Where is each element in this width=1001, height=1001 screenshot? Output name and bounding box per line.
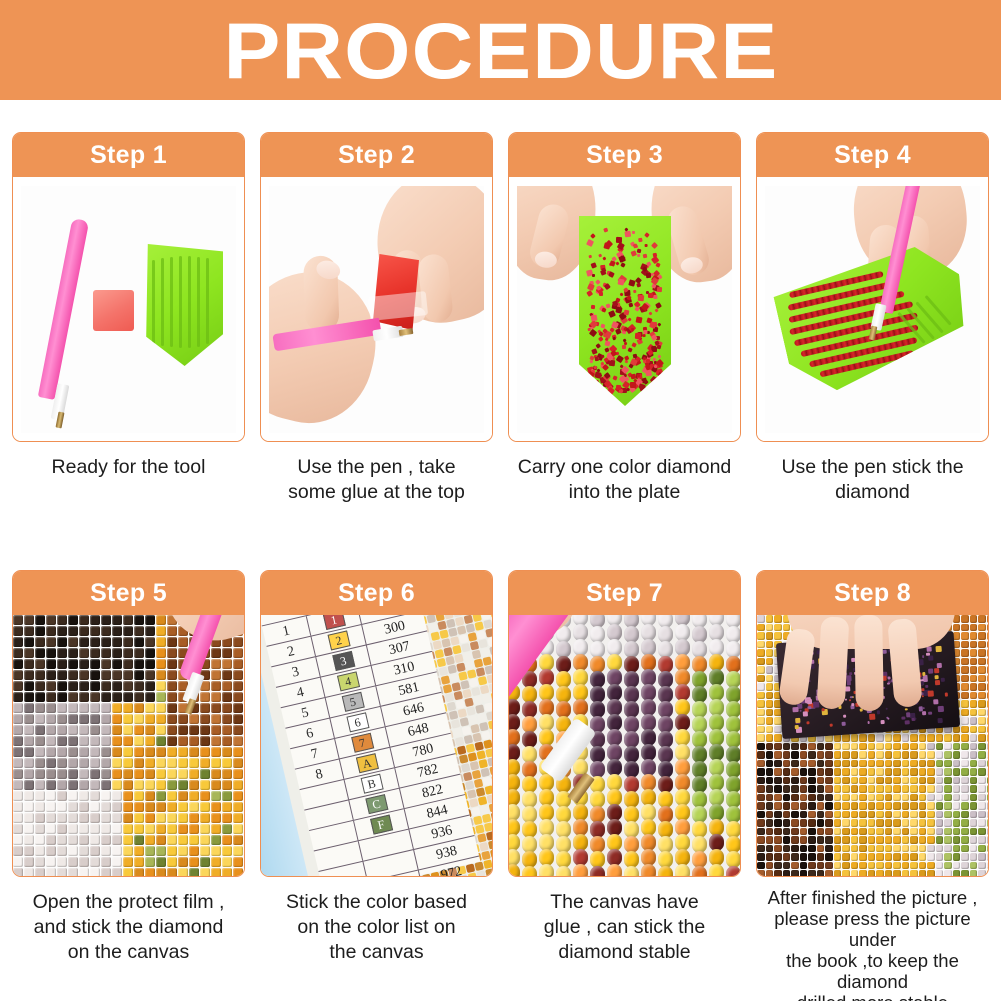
caption-line: into the plate — [510, 480, 739, 505]
caption-line: on the canvas — [14, 940, 243, 965]
step-1-header-label: Step 1 — [90, 141, 167, 170]
caption-line: After finished the picture , — [758, 887, 987, 908]
color-swatch: 2 — [327, 631, 350, 651]
caption-line: the book ,to keep the diamond — [758, 950, 987, 992]
step-6-header: Step 6 — [261, 571, 492, 615]
step-2-photo — [261, 177, 492, 441]
step-3-header: Step 3 — [509, 133, 740, 177]
caption-line: The canvas have — [510, 890, 739, 915]
step-4-caption: Use the pen stick the diamond — [756, 455, 989, 505]
caption-line: Carry one color diamond — [510, 455, 739, 480]
color-swatch: 1 — [322, 615, 345, 630]
step-1-illustration — [21, 186, 236, 433]
color-swatch: B — [360, 774, 383, 794]
steps-row-bottom: Step 5 Open the protect film , — [0, 570, 1001, 1001]
round-bead-closeup — [509, 615, 740, 876]
step-7-card: Step 7 — [508, 570, 741, 877]
step-7-header-label: Step 7 — [586, 579, 663, 608]
finger-icon — [817, 616, 850, 709]
step-card-4: Step 4 — [756, 132, 989, 505]
step-2-card: Step 2 — [260, 132, 493, 442]
step-4-card: Step 4 — [756, 132, 989, 442]
step-7-illustration — [509, 615, 740, 876]
step-3-card: Step 3 — [508, 132, 741, 442]
step-card-5: Step 5 Open the protect film , — [12, 570, 245, 1001]
step-2-header-label: Step 2 — [338, 141, 415, 170]
step-4-illustration — [765, 186, 980, 433]
caption-line: diamond — [758, 480, 987, 505]
procedure-page: PROCEDURE Step 1 — [0, 0, 1001, 1001]
finger-icon — [854, 615, 884, 711]
steps-row-top: Step 1 — [0, 132, 1001, 505]
step-2-caption: Use the pen , take some glue at the top — [260, 455, 493, 505]
step-card-6: Step 6 No. Symbol DMC — [260, 570, 493, 1001]
glue-square-icon — [93, 290, 134, 331]
color-swatch: 4 — [336, 671, 359, 691]
step-6-photo: No. Symbol DMC 1122300333074431055581666… — [261, 615, 492, 876]
step-5-header-label: Step 5 — [90, 579, 167, 608]
step-6-illustration: No. Symbol DMC 1122300333074431055581666… — [261, 615, 492, 876]
step-2-header: Step 2 — [261, 133, 492, 177]
step-6-card: Step 6 No. Symbol DMC — [260, 570, 493, 877]
step-1-caption: Ready for the tool — [12, 455, 245, 480]
color-swatch: A — [355, 753, 378, 773]
step-5-card: Step 5 — [12, 570, 245, 877]
step-1-card: Step 1 — [12, 132, 245, 442]
caption-line: on the color list on — [262, 915, 491, 940]
step-3-header-label: Step 3 — [586, 141, 663, 170]
caption-line: diamond stable — [510, 940, 739, 965]
color-swatch: F — [370, 815, 393, 835]
step-5-caption: Open the protect film , and stick the di… — [12, 890, 245, 965]
step-6-caption: Stick the color based on the color list … — [260, 890, 493, 965]
step-2-illustration — [269, 186, 484, 433]
page-title: PROCEDURE — [223, 11, 778, 90]
step-4-header-label: Step 4 — [834, 141, 911, 170]
color-swatch: 3 — [332, 651, 355, 671]
step-8-header-label: Step 8 — [834, 579, 911, 608]
step-card-1: Step 1 — [12, 132, 245, 505]
step-5-header: Step 5 — [13, 571, 244, 615]
step-card-8: Step 8 — [756, 570, 989, 1001]
step-8-photo — [757, 615, 988, 876]
step-3-illustration — [517, 186, 732, 433]
green-tray-icon — [143, 244, 223, 366]
step-6-header-label: Step 6 — [338, 579, 415, 608]
step-7-caption: The canvas have glue , can stick the dia… — [508, 890, 741, 965]
color-swatch: C — [365, 794, 388, 814]
caption-line: Use the pen stick the — [758, 455, 987, 480]
sunflower-mosaic — [13, 615, 244, 876]
step-3-photo — [509, 177, 740, 441]
pink-pen-icon — [38, 218, 89, 400]
step-1-header: Step 1 — [13, 133, 244, 177]
color-swatch: 7 — [351, 733, 374, 753]
caption-line: please press the picture under — [758, 908, 987, 950]
page-banner: PROCEDURE — [0, 0, 1001, 100]
step-card-2: Step 2 — [260, 132, 493, 505]
step-5-illustration — [13, 615, 244, 876]
step-card-3: Step 3 — [508, 132, 741, 505]
color-swatch: 6 — [346, 712, 369, 732]
step-8-illustration — [757, 615, 988, 876]
step-8-caption: After finished the picture , please pres… — [756, 887, 989, 1001]
caption-line: drilled more stable — [758, 992, 987, 1001]
caption-line: glue , can stick the — [510, 915, 739, 940]
step-7-photo — [509, 615, 740, 876]
step-4-header: Step 4 — [757, 133, 988, 177]
caption-line: some glue at the top — [262, 480, 491, 505]
step-5-photo — [13, 615, 244, 876]
caption-line: Use the pen , take — [262, 455, 491, 480]
step-4-photo — [757, 177, 988, 441]
step-8-header: Step 8 — [757, 571, 988, 615]
pen-tip-metal-icon — [399, 328, 414, 336]
step-1-photo — [13, 177, 244, 441]
caption-line: Stick the color based — [262, 890, 491, 915]
step-8-card: Step 8 — [756, 570, 989, 877]
caption-line: Open the protect film , — [14, 890, 243, 915]
steps-grid: Step 1 — [0, 100, 1001, 1001]
caption-line: Ready for the tool — [14, 455, 243, 480]
step-7-header: Step 7 — [509, 571, 740, 615]
step-3-caption: Carry one color diamond into the plate — [508, 455, 741, 505]
caption-line: and stick the diamond — [14, 915, 243, 940]
color-swatch: 5 — [341, 692, 364, 712]
green-tray-icon — [579, 216, 671, 406]
step-card-7: Step 7 The canvas have glue — [508, 570, 741, 1001]
caption-line: the canvas — [262, 940, 491, 965]
